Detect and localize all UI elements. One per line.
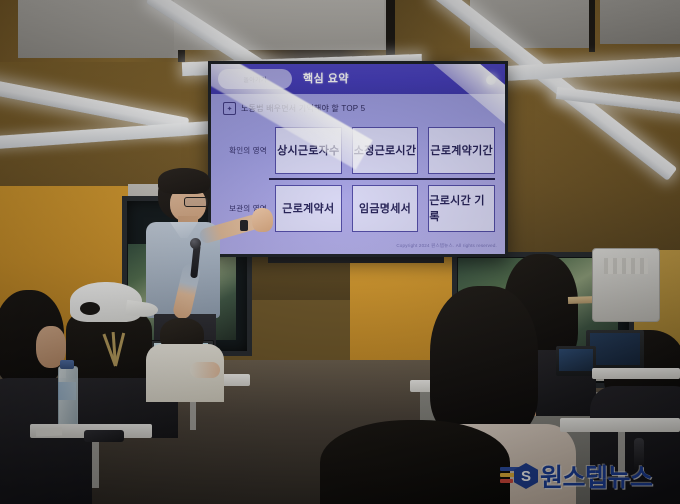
- glasses-icon: [184, 197, 208, 207]
- slide-cell: 근로계약기간: [428, 127, 495, 174]
- slide-cell: 임금명세서: [352, 185, 419, 232]
- watermark-brand: 원스텝뉴스: [540, 458, 653, 494]
- back-tab[interactable]: 돌아가기: [218, 69, 292, 89]
- wall-post: [589, 0, 595, 52]
- wristwatch: [240, 220, 248, 231]
- microphone-head: [190, 238, 201, 249]
- bottle-label: [58, 382, 76, 400]
- attendee-arm: [190, 362, 220, 378]
- slide-row-confirm: 확인의 영역 상시근로자수 소정근로시간 근로계약기간: [221, 126, 495, 174]
- attendee-hair: [430, 286, 538, 436]
- logo-glyph: S: [521, 468, 531, 485]
- slide-title: 핵심 요약: [303, 70, 349, 86]
- bottle-cap: [60, 360, 74, 369]
- table-leg: [92, 438, 99, 488]
- slide-cell: 상시근로자수: [275, 127, 342, 174]
- attendee-table: [560, 418, 680, 432]
- row-divider: [269, 178, 495, 180]
- onestep-logo-icon: S: [500, 461, 536, 491]
- monitor-vent: [604, 258, 648, 274]
- row-label-confirm: 확인의 영역: [221, 145, 275, 156]
- paper-sheet: [36, 427, 62, 436]
- lightbulb-icon: ✦: [223, 102, 236, 115]
- logo-bar-red: [500, 479, 513, 483]
- slide-cell: 근로계약서: [275, 185, 342, 232]
- attendee-hair: [320, 420, 510, 504]
- light-reflection-dot: [486, 75, 496, 85]
- slide-subtitle-text: 노동법 배우면서 기억해야 할 TOP 5: [241, 103, 365, 114]
- slide-subtitle-row: ✦ 노동법 배우면서 기억해야 할 TOP 5: [223, 102, 365, 115]
- slide-copyright: Copyright 2024 원스텝뉴스. All rights reserve…: [396, 243, 497, 249]
- logo-bar-yellow: [500, 473, 516, 477]
- attendee-table: [592, 368, 680, 379]
- attendee-foreground: [320, 420, 510, 504]
- smartphone: [84, 430, 124, 442]
- plant-decor: [106, 326, 128, 366]
- row-cells-storage: 근로계약서 임금명세서 근로시간 기록: [275, 185, 495, 232]
- watermark: S 원스텝뉴스: [500, 458, 653, 494]
- slide-cell: 소정근로시간: [352, 127, 419, 174]
- attendee-beige-shirt: [148, 318, 222, 398]
- presenter-hand: [252, 208, 273, 232]
- slide-cell: 근로시간 기록: [428, 185, 495, 232]
- ceiling-panel: [600, 0, 680, 44]
- presenter-hair-front: [158, 168, 210, 194]
- lecture-room-photo: 돌아가기 핵심 요약 ✦ 노동법 배우면서 기억해야 할 TOP 5 확인의 영…: [0, 0, 680, 504]
- back-tab-label: 돌아가기: [244, 75, 267, 84]
- row-cells-confirm: 상시근로자수 소정근로시간 근로계약기간: [275, 127, 495, 174]
- laptop-right-screen: [590, 333, 640, 365]
- slide-header: 돌아가기 핵심 요약: [211, 64, 505, 94]
- cap-back-opening: [80, 302, 100, 315]
